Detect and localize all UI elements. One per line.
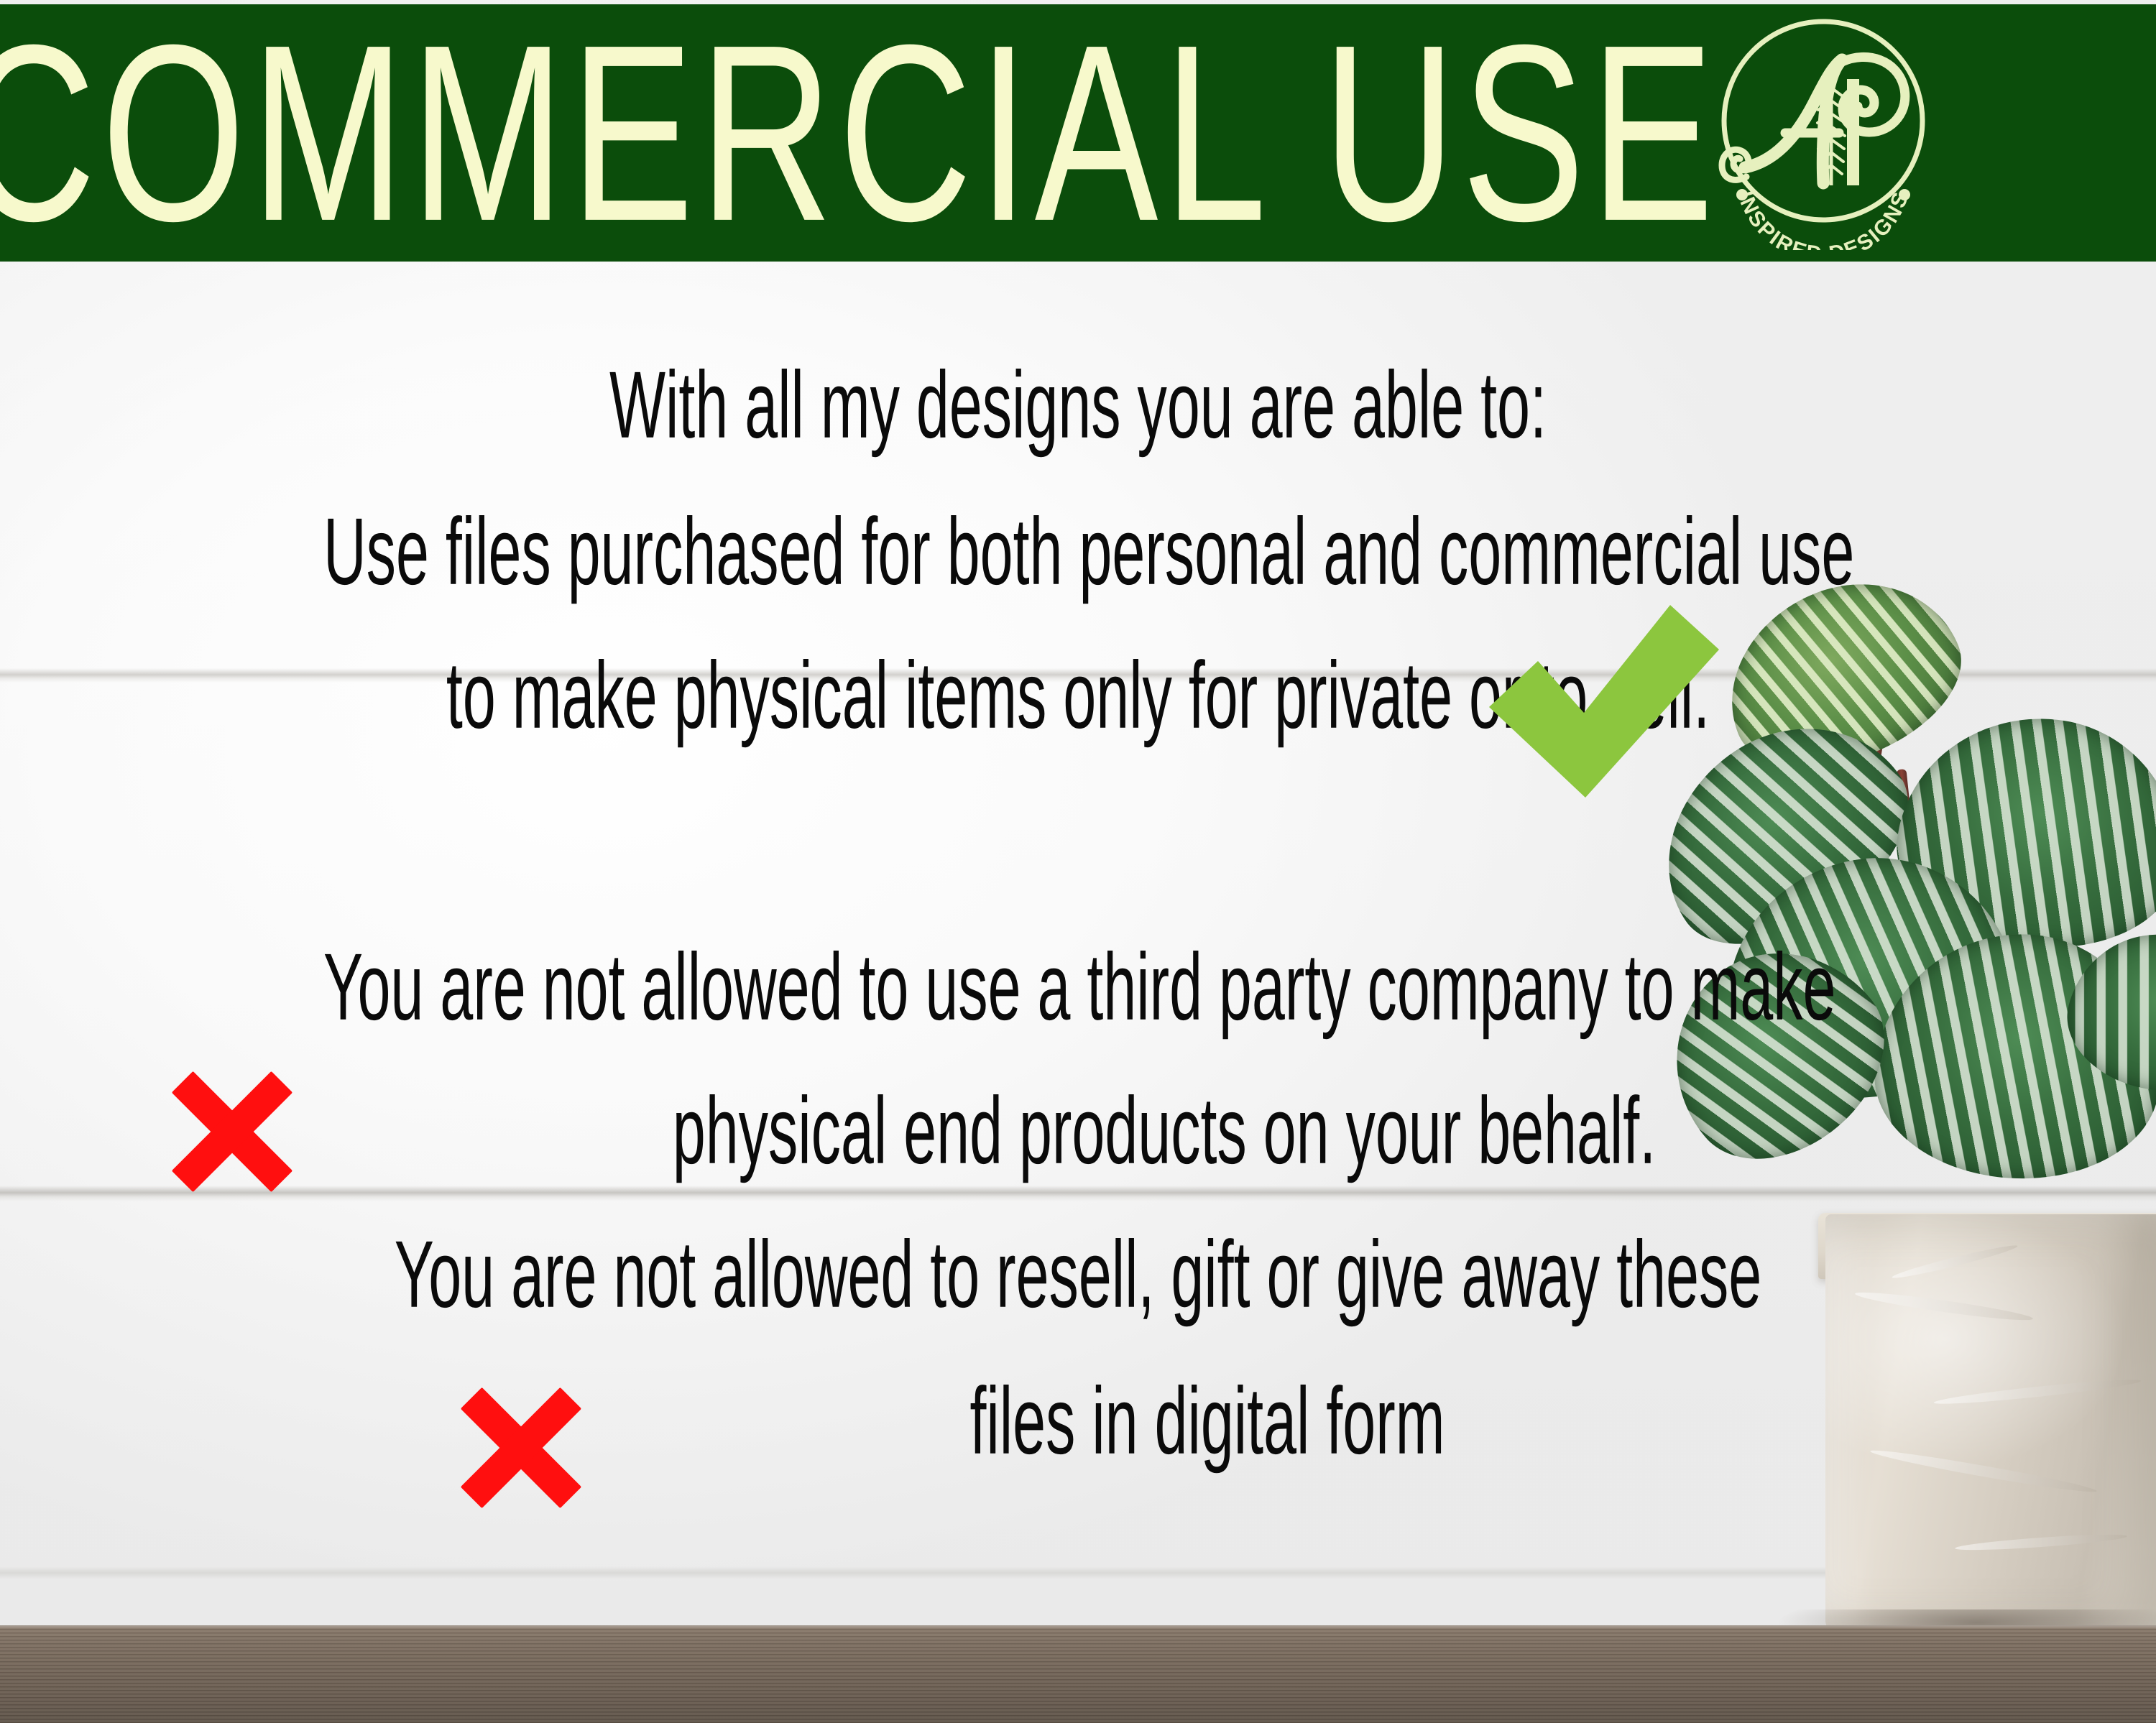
license-copy: With all my designs you are able to: Use… [0, 0, 2156, 1723]
allowed-line-1: Use files purchased for both personal an… [323, 497, 1833, 606]
allowed-intro-line: With all my designs you are able to: [323, 351, 1833, 460]
not-allowed-line-1: You are not allowed to use a third party… [323, 933, 1833, 1042]
not-allowed-line-4: files in digital form [453, 1367, 1962, 1476]
not-allowed-line-2: physical end products on your behalf. [410, 1076, 1919, 1186]
poster-canvas: COMMERCIAL USE [0, 0, 2156, 1723]
green-check-icon [1489, 605, 1719, 799]
not-allowed-line-3: You are not allowed to resell, gift or g… [323, 1220, 1833, 1329]
red-cross-icon [454, 1381, 588, 1515]
red-cross-icon [165, 1065, 299, 1198]
